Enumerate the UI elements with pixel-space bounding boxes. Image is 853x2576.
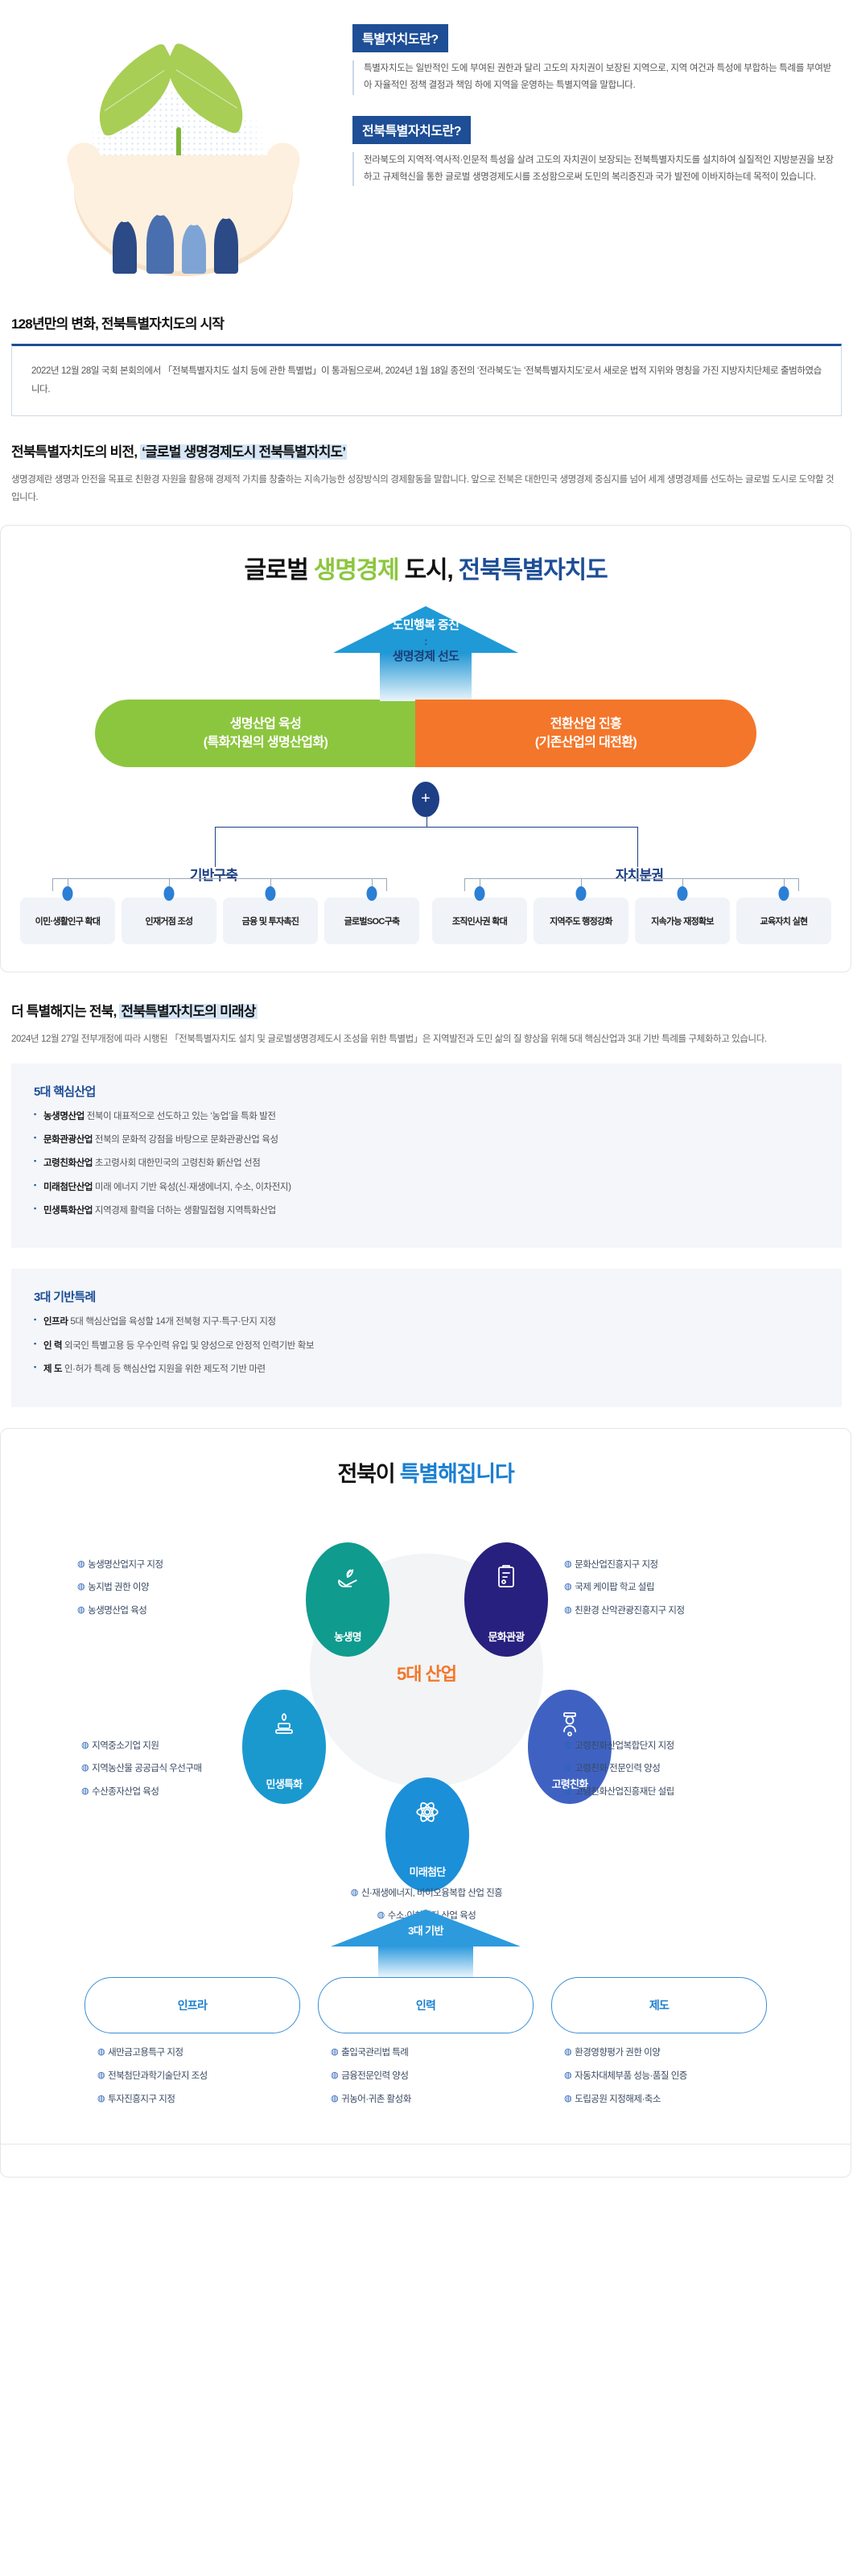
- bullets-culture-tourism: ◍문화산업진흥지구 지정 ◍국제 케이팝 학교 설립 ◍친환경 산악관광진흥지구…: [564, 1558, 685, 1628]
- bullet-label: 금융전문인력 양성: [341, 2070, 408, 2083]
- branch-title-autonomy: 자치분권: [426, 864, 852, 884]
- card-heading-base: 3대 기반특례: [34, 1288, 819, 1305]
- bullet-label: 국제 케이팝 학교 설립: [575, 1581, 654, 1595]
- person-head-icon: [117, 208, 132, 222]
- three-base-columns: 인프라 ◍새만금고용특구 지정 ◍전북첨단과학기술단지 조성 ◍투자진흥지구 지…: [1, 1977, 851, 2116]
- base-column-heading[interactable]: 인력: [318, 1977, 534, 2033]
- list-item: 미래첨단산업 미래 에너지 기반 육성(신·재생에너지, 수소, 이차전지): [34, 1180, 819, 1195]
- node-dot-icon: [63, 886, 73, 901]
- hero-text-block: 특별자치도란? 특별자치도는 일반적인 도에 부여된 권한과 달리 고도의 자치…: [352, 24, 835, 186]
- bullet-label: 농생명산업지구 지정: [88, 1558, 163, 1572]
- headline-part-1: 글로벌: [245, 557, 314, 584]
- check-circle-icon: ◍: [77, 1558, 84, 1571]
- leaf-item: 이민·생활인구 확대: [20, 891, 115, 944]
- autonomy-group: 조직인사권 확대 지역주도 행정강화 지속가능 재정확보 교육자치 실현: [426, 891, 838, 944]
- vision-title-plain: 전북특별자치도의 비전,: [11, 444, 140, 460]
- check-circle-icon: ◍: [564, 1740, 571, 1752]
- leaf-item: 조직인사권 확대: [432, 891, 527, 944]
- section-change: 128년만의 변화, 전북특별자치도의 시작 2022년 12월 28일 국회 …: [0, 312, 853, 416]
- bullet-label: 농지법 권한 이양: [88, 1581, 149, 1595]
- list-item: 제 도 인·허가 특례 등 핵심산업 지원을 위한 제도적 기반 마련: [34, 1362, 819, 1377]
- goal-arrow: 도민행복 증진 : 생명경제 선도: [1, 606, 851, 701]
- sprout-hand-icon: [306, 1563, 389, 1595]
- bullet-label: 도립공원 지정해제·축소: [575, 2093, 661, 2106]
- base-column-workforce: 인력 ◍출입국관리법 특례 ◍금융전문인력 양성 ◍귀농어·귀촌 활성화: [318, 1977, 534, 2116]
- bullets-minsaeng: ◍지역중소기업 지원 ◍지역농산물 공공급식 우선구매 ◍수산종자산업 육성: [81, 1740, 202, 1809]
- check-circle-icon: ◍: [97, 2070, 105, 2082]
- vision-diagram: 글로벌 생명경제 도시, 전북특별자치도 도민행복 증진 : 생명경제 선도 생…: [0, 525, 851, 972]
- node-dot-icon: [367, 886, 377, 901]
- goal-top-label: 도민행복 증진: [393, 618, 459, 632]
- plus-icon: +: [412, 782, 439, 817]
- bullets-aging-friendly: ◍고령친화산업복합단지 지정 ◍고령친화 전문인력 양성 ◍고령친화산업진흥재단…: [564, 1740, 674, 1809]
- card-three-base-exceptions: 3대 기반특례 인프라 5대 핵심산업을 육성할 14개 전북형 지구·특구·단…: [11, 1269, 842, 1406]
- future-title-highlight: 전북특별자치도의 미래상: [119, 1004, 257, 1019]
- list-item: ◍출입국관리법 특례: [331, 2046, 534, 2059]
- leaf-label: 지속가능 재정확보: [635, 898, 730, 944]
- list-item: ◍자동차대체부품 성능·품질 인증: [564, 2070, 767, 2083]
- goal-bottom-label: 생명경제 선도: [393, 650, 459, 663]
- list-item: ◍지역중소기업 지원: [81, 1740, 202, 1753]
- page-title-vision: 전북특별자치도의 비전, ‘글로벌 생명경제도시 전북특별자치도’: [11, 440, 853, 460]
- bullets-nongsaengmyeong: ◍농생명산업지구 지정 ◍농지법 권한 이양 ◍농생명산업 육성: [77, 1558, 163, 1628]
- check-circle-icon: ◍: [77, 1604, 84, 1616]
- core-desc: 지역경제 활력을 더하는 생활밀접형 지역특화산업: [95, 1206, 276, 1216]
- check-circle-icon: ◍: [97, 2046, 105, 2058]
- list-item: ◍도립공원 지정해제·축소: [564, 2093, 767, 2106]
- base-desc: 인·허가 특례 등 핵심산업 지원을 위한 제도적 기반 마련: [64, 1364, 266, 1374]
- node-dot-icon: [678, 886, 688, 901]
- page-root: 특별자치도란? 특별자치도는 일반적인 도에 부여된 권한과 달리 고도의 자치…: [0, 0, 853, 2178]
- list-item: ◍수산종자산업 육성: [81, 1785, 202, 1799]
- industry-wheel: 5대 산업 농생명: [1, 1502, 852, 1905]
- list-item: ◍귀농어·귀촌 활성화: [331, 2093, 534, 2106]
- headline-blue: 전북특별자치도: [459, 557, 608, 584]
- base-term: 인 력: [43, 1341, 62, 1351]
- list-item: ◍고령친화산업복합단지 지정: [564, 1740, 674, 1753]
- list-item: 민생특화산업 지역경제 활력을 더하는 생활밀접형 지역특화산업: [34, 1203, 819, 1218]
- bullet-label: 전북첨단과학기술단지 조성: [108, 2070, 208, 2083]
- page-title-future: 더 특별해지는 전북, 전북특별자치도의 미래상: [11, 1000, 853, 1020]
- pill-life-industry-title: 생명산업 육성: [204, 715, 328, 733]
- base-column-system: 제도 ◍환경영향평가 권한 이양 ◍자동차대체부품 성능·품질 인증 ◍도립공원…: [551, 1977, 767, 2116]
- three-base-arrow-label: 3대 기반: [1, 1922, 851, 1938]
- vision-diagram-headline: 글로벌 생명경제 도시, 전북특별자치도: [1, 550, 851, 585]
- leaf-label: 교육자치 실현: [736, 898, 831, 944]
- strategy-pills: 생명산업 육성 (특화자원의 생명산업화) 전환산업 진흥 (기존산업의 대전환…: [1, 700, 851, 767]
- bullet-label: 지역중소기업 지원: [92, 1740, 159, 1753]
- list-item: ◍문화산업진흥지구 지정: [564, 1558, 685, 1572]
- core-industry-list: 농생명산업 전북이 대표적으로 선도하고 있는 ‘농업’을 특화 발전 문화관광…: [34, 1109, 819, 1219]
- node-dot-icon: [576, 886, 587, 901]
- base-column-infra: 인프라 ◍새만금고용특구 지정 ◍전북첨단과학기술단지 조성 ◍투자진흥지구 지…: [84, 1977, 300, 2116]
- check-circle-icon: ◍: [564, 2070, 571, 2082]
- bullet-label: 투자진흥지구 지정: [108, 2093, 175, 2106]
- base-column-list: ◍새만금고용특구 지정 ◍전북첨단과학기술단지 조성 ◍투자진흥지구 지정: [84, 2046, 300, 2106]
- person-icon: [214, 217, 238, 274]
- bullet-label: 농생명산업 육성: [88, 1604, 146, 1618]
- base-column-list: ◍출입국관리법 특례 ◍금융전문인력 양성 ◍귀농어·귀촌 활성화: [318, 2046, 534, 2106]
- list-item: ◍농지법 권한 이양: [77, 1581, 163, 1595]
- bullet-label: 귀농어·귀촌 활성화: [341, 2093, 411, 2106]
- pill-transition-industry-title: 전환산업 진흥: [535, 715, 637, 733]
- node-dot-icon: [779, 886, 789, 901]
- goal-divider: :: [1, 634, 851, 649]
- industry-node-minsaeng[interactable]: 민생특화: [242, 1690, 326, 1804]
- industry-node-label: 미래첨단: [409, 1864, 445, 1879]
- headline-part-2: 도시,: [398, 557, 458, 584]
- future-description: 2024년 12월 27일 전부개정에 따라 시행된 「전북특별자치도 설치 및…: [11, 1031, 842, 1049]
- person-head-icon: [153, 200, 168, 216]
- node-dot-icon: [475, 886, 485, 901]
- list-item: 문화관광산업 전북의 문화적 강점을 바탕으로 문화관광산업 육성: [34, 1133, 819, 1147]
- check-circle-icon: ◍: [564, 1762, 571, 1774]
- bullet-label: 출입국관리법 특례: [341, 2046, 408, 2059]
- card-heading-core: 5대 핵심산업: [34, 1083, 819, 1100]
- bottom-divider: [1, 2144, 851, 2145]
- headline-green: 생명경제: [314, 557, 399, 584]
- card-five-core-industries: 5대 핵심산업 농생명산업 전북이 대표적으로 선도하고 있는 ‘농업’을 특화…: [11, 1063, 842, 1249]
- bullet-label: 수산종자산업 육성: [92, 1785, 159, 1799]
- future-title-plain: 더 특별해지는 전북,: [11, 1004, 119, 1019]
- list-item: ◍친환경 산악관광진흥지구 지정: [564, 1604, 685, 1618]
- person-head-icon: [187, 211, 201, 225]
- bullet-label: 고령친화산업진흥재단 설립: [575, 1785, 674, 1799]
- person-icon: [146, 214, 174, 274]
- list-item: 고령친화산업 초고령사회 대한민국의 고령친화 新산업 선점: [34, 1156, 819, 1170]
- goal-arrow-labels: 도민행복 증진 : 생명경제 선도: [1, 617, 851, 666]
- leaf-item: 지속가능 재정확보: [635, 891, 730, 944]
- node-dot-icon: [164, 886, 175, 901]
- industry-node-label: 민생특화: [266, 1776, 302, 1791]
- base-column-heading[interactable]: 제도: [551, 1977, 767, 2033]
- base-desc: 5대 핵심산업을 육성할 14개 전북형 지구·특구·단지 지정: [70, 1317, 275, 1327]
- core-desc: 초고령사회 대한민국의 고령친화 新산업 선점: [95, 1158, 261, 1168]
- pill-life-industry-sub: (특화자원의 생명산업화): [204, 733, 328, 752]
- elder-person-icon: [528, 1711, 612, 1742]
- node-dot-icon: [266, 886, 276, 901]
- bullet-label: 친환경 산악관광진흥지구 지정: [575, 1604, 684, 1618]
- leaf-label: 글로벌SOC구축: [324, 898, 419, 944]
- diagram-connector: 기반구축 자치분권: [1, 817, 852, 886]
- wheel-center-label: 5대 산업: [1, 1660, 852, 1686]
- stamp-icon: [242, 1711, 326, 1742]
- person-icon: [113, 221, 137, 274]
- leaf-item: 금융 및 투자촉진: [223, 891, 318, 944]
- list-item: ◍전북첨단과학기술단지 조성: [97, 2070, 300, 2083]
- infographic-title: 전북이 특별해집니다: [1, 1456, 851, 1488]
- page-title-change: 128년만의 변화, 전북특별자치도의 시작: [11, 312, 853, 332]
- list-item: ◍새만금고용특구 지정: [97, 2046, 300, 2059]
- list-item: ◍지역농산물 공공급식 우선구매: [81, 1762, 202, 1776]
- leaf-item: 인재거점 조성: [122, 891, 216, 944]
- leaf-item: 교육자치 실현: [736, 891, 831, 944]
- base-desc: 외국인 특별고용 등 우수인력 유입 및 양성으로 안정적 인력기반 확보: [64, 1341, 314, 1351]
- industry-node-label: 문화관광: [488, 1629, 524, 1644]
- list-item: ◍신·재생에너지, 바이오융복합 산업 진흥: [1, 1887, 852, 1901]
- bullet-label: 새만금고용특구 지정: [108, 2046, 183, 2059]
- vision-title-highlight: ‘글로벌 생명경제도시 전북특별자치도’: [140, 444, 347, 460]
- list-item: ◍농생명산업 육성: [77, 1604, 163, 1618]
- check-circle-icon: ◍: [564, 1785, 571, 1798]
- leaf-label: 인재거점 조성: [122, 898, 216, 944]
- core-term: 농생명산업: [43, 1112, 84, 1121]
- check-circle-icon: ◍: [81, 1762, 89, 1774]
- industry-node-label: 농생명: [334, 1629, 361, 1644]
- list-item: ◍환경영향평가 권한 이양: [564, 2046, 767, 2059]
- leaf-label: 이민·생활인구 확대: [20, 898, 115, 944]
- list-item: ◍투자진흥지구 지정: [97, 2093, 300, 2106]
- branch-title-foundation: 기반구축: [1, 864, 426, 884]
- check-circle-icon: ◍: [351, 1887, 358, 1899]
- bullet-label: 고령친화산업복합단지 지정: [575, 1740, 674, 1753]
- leaf-label: 지역주도 행정강화: [534, 898, 628, 944]
- section-vision: 전북특별자치도의 비전, ‘글로벌 생명경제도시 전북특별자치도’ 생명경제란 …: [0, 440, 853, 972]
- check-circle-icon: ◍: [331, 2046, 338, 2058]
- base-column-list: ◍환경영향평가 권한 이양 ◍자동차대체부품 성능·품질 인증 ◍도립공원 지정…: [551, 2046, 767, 2106]
- check-circle-icon: ◍: [564, 2046, 571, 2058]
- check-circle-icon: ◍: [564, 1581, 571, 1593]
- bullet-label: 신·재생에너지, 바이오융복합 산업 진흥: [361, 1887, 502, 1901]
- hero-body-special-province: 특별자치도는 일반적인 도에 부여된 권한과 달리 고도의 자치권이 보장된 지…: [352, 60, 835, 95]
- list-item: 인프라 5대 핵심산업을 육성할 14개 전북형 지구·특구·단지 지정: [34, 1315, 819, 1329]
- base-column-heading[interactable]: 인프라: [84, 1977, 300, 2033]
- leaf-item: 글로벌SOC구축: [324, 891, 419, 944]
- industry-node-nongsaengmyeong[interactable]: 농생명: [306, 1542, 389, 1657]
- atom-icon: [385, 1798, 469, 1830]
- leaf-label: 금융 및 투자촉진: [223, 898, 318, 944]
- bullet-label: 지역농산물 공공급식 우선구매: [92, 1762, 201, 1776]
- core-desc: 전북이 대표적으로 선도하고 있는 ‘농업’을 특화 발전: [87, 1112, 276, 1121]
- check-circle-icon: ◍: [564, 1558, 571, 1571]
- check-circle-icon: ◍: [81, 1740, 89, 1752]
- list-item: ◍고령친화 전문인력 양성: [564, 1762, 674, 1776]
- callout-law-passed: 2022년 12월 28일 국회 본회의에서 「전북특별자치도 설치 등에 관한…: [11, 344, 842, 416]
- list-item: 인 력 외국인 특별고용 등 우수인력 유입 및 양성으로 안정적 인력기반 확…: [34, 1339, 819, 1353]
- core-term: 미래첨단산업: [43, 1183, 93, 1192]
- hero-body-jeonbuk-special-province: 전라북도의 지역적·역사적·인문적 특성을 살려 고도의 자치권이 보장되는 전…: [352, 152, 835, 187]
- check-circle-icon: ◍: [97, 2093, 105, 2105]
- list-item: ◍고령친화산업진흥재단 설립: [564, 1785, 674, 1799]
- bullet-label: 고령친화 전문인력 양성: [575, 1762, 660, 1776]
- bullet-label: 자동차대체부품 성능·품질 인증: [575, 2070, 687, 2083]
- clipboard-icon: [464, 1563, 548, 1595]
- infographic-five-industries: 전북이 특별해집니다 5대 산업 농생명: [0, 1428, 851, 2178]
- check-circle-icon: ◍: [77, 1581, 84, 1593]
- hero-section: 특별자치도란? 특별자치도는 일반적인 도에 부여된 권한과 달리 고도의 자치…: [0, 0, 853, 299]
- check-circle-icon: ◍: [564, 1604, 571, 1616]
- industry-node-future-advanced[interactable]: 미래첨단: [385, 1777, 469, 1892]
- pill-life-industry: 생명산업 육성 (특화자원의 생명산업화): [95, 700, 436, 767]
- base-term: 인프라: [43, 1317, 68, 1327]
- vision-description: 생명경제란 생명과 안전을 목표로 친환경 자원을 활용해 경제적 가치를 창출…: [11, 472, 842, 507]
- check-circle-icon: ◍: [331, 2093, 338, 2105]
- sprout-in-hands-illustration: [24, 14, 338, 288]
- base-term: 제 도: [43, 1364, 62, 1374]
- list-item: 농생명산업 전북이 대표적으로 선도하고 있는 ‘농업’을 특화 발전: [34, 1109, 819, 1124]
- pill-transition-industry-sub: (기존산업의 대전환): [535, 733, 637, 752]
- leaf-item: 지역주도 행정강화: [534, 891, 628, 944]
- check-circle-icon: ◍: [81, 1785, 89, 1798]
- core-term: 문화관광산업: [43, 1135, 93, 1145]
- core-term: 민생특화산업: [43, 1206, 93, 1216]
- person-icon: [182, 224, 206, 274]
- core-term: 고령친화산업: [43, 1158, 93, 1168]
- core-desc: 미래 에너지 기반 육성(신·재생에너지, 수소, 이차전지): [95, 1183, 291, 1192]
- hero-tag-jeonbuk-special-province: 전북특별자치도란?: [352, 116, 471, 144]
- three-base-arrow: 3대 기반: [1, 1909, 851, 1977]
- check-circle-icon: ◍: [564, 2093, 571, 2105]
- bullet-label: 환경영향평가 권한 이양: [575, 2046, 660, 2059]
- diagram-leaf-row: 이민·생활인구 확대 인재거점 조성 금융 및 투자촉진 글로벌SOC구축: [1, 891, 851, 944]
- section-future: 더 특별해지는 전북, 전북특별자치도의 미래상 2024년 12월 27일 전…: [0, 1000, 853, 1407]
- list-item: ◍금융전문인력 양성: [331, 2070, 534, 2083]
- list-item: ◍농생명산업지구 지정: [77, 1558, 163, 1572]
- hero-tag-special-province: 특별자치도란?: [352, 24, 448, 52]
- pill-transition-industry: 전환산업 진흥 (기존산업의 대전환): [415, 700, 756, 767]
- person-head-icon: [219, 204, 233, 219]
- foundation-group: 이민·생활인구 확대 인재거점 조성 금융 및 투자촉진 글로벌SOC구축: [14, 891, 426, 944]
- leaf-label: 조직인사권 확대: [432, 898, 527, 944]
- core-desc: 전북의 문화적 강점을 바탕으로 문화관광산업 육성: [95, 1135, 278, 1145]
- industry-node-culture-tourism[interactable]: 문화관광: [464, 1542, 548, 1657]
- base-exception-list: 인프라 5대 핵심산업을 육성할 14개 전북형 지구·특구·단지 지정 인 력…: [34, 1315, 819, 1377]
- check-circle-icon: ◍: [331, 2070, 338, 2082]
- bullet-label: 문화산업진흥지구 지정: [575, 1558, 658, 1572]
- infographic-title-blue: 특별해집니다: [400, 1462, 514, 1486]
- infographic-title-dark: 전북이: [337, 1462, 399, 1486]
- list-item: ◍국제 케이팝 학교 설립: [564, 1581, 685, 1595]
